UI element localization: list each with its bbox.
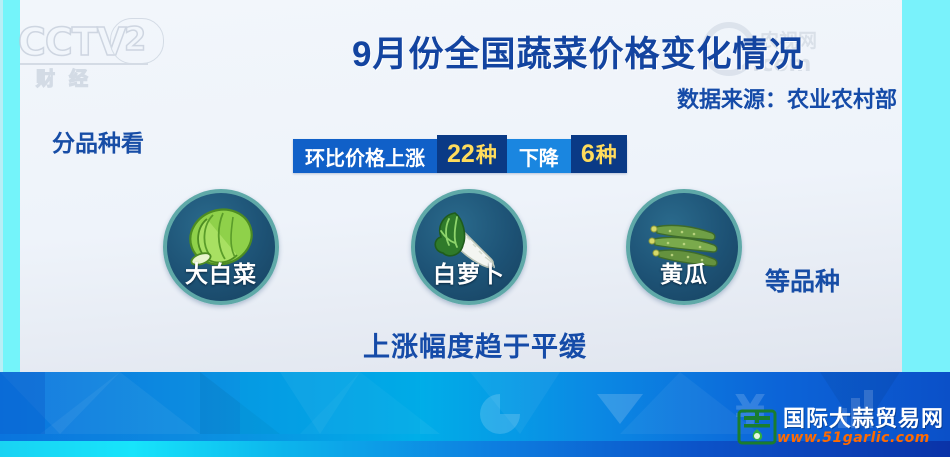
right-cyan-stripe (902, 0, 950, 372)
page-title: 9月份全国蔬菜价格变化情况 (352, 26, 897, 77)
garlic-logo-icon (737, 407, 777, 447)
site-watermark-url: www.51garlic.com (777, 430, 944, 446)
veg-circle-radish: 白萝卜 (411, 189, 527, 305)
cctv-channel-number: 2 (124, 20, 146, 58)
veg-label-cabbage: 大白菜 (185, 255, 257, 289)
cctv2-logo: CCTV 2 财经 (14, 20, 204, 82)
badge-fall-count: 6种 (571, 135, 627, 173)
badge-rise-count: 22种 (437, 135, 507, 173)
site-watermark-name: 国际大蒜贸易网 (783, 408, 944, 430)
cctv-channel-badge: 2 (110, 18, 164, 64)
site-watermark: 国际大蒜贸易网 www.51garlic.com (737, 405, 944, 449)
badge-rise-number: 22 (447, 140, 475, 169)
badge-fall-label: 下降 (507, 139, 571, 173)
badge-rise-label: 环比价格上涨 (293, 139, 437, 173)
badge-rise-unit: 种 (476, 139, 497, 169)
broadcast-graphic: CCTV 2 财经 农视网 .com 9月份全国蔬菜价格变化情况 数据来源：农业… (0, 0, 950, 457)
category-label: 分品种看 (52, 124, 144, 158)
veg-circle-cucumber: 黄瓜 (626, 189, 742, 305)
data-source-line: 数据来源：农业农村部 (352, 82, 943, 114)
veg-circle-cabbage: 大白菜 (163, 189, 279, 305)
veg-label-cucumber: 黄瓜 (660, 255, 708, 289)
cctv-channel-subtitle: 财经 (36, 64, 102, 91)
price-change-badge-bar: 环比价格上涨 22种 下降 6种 (293, 139, 627, 173)
veg-label-radish: 白萝卜 (433, 255, 505, 289)
badge-fall-number: 6 (581, 140, 595, 169)
summary-caption: 上涨幅度趋于平缓 (0, 325, 950, 364)
etc-varieties-label: 等品种 (765, 262, 840, 298)
badge-fall-unit: 种 (596, 139, 617, 169)
